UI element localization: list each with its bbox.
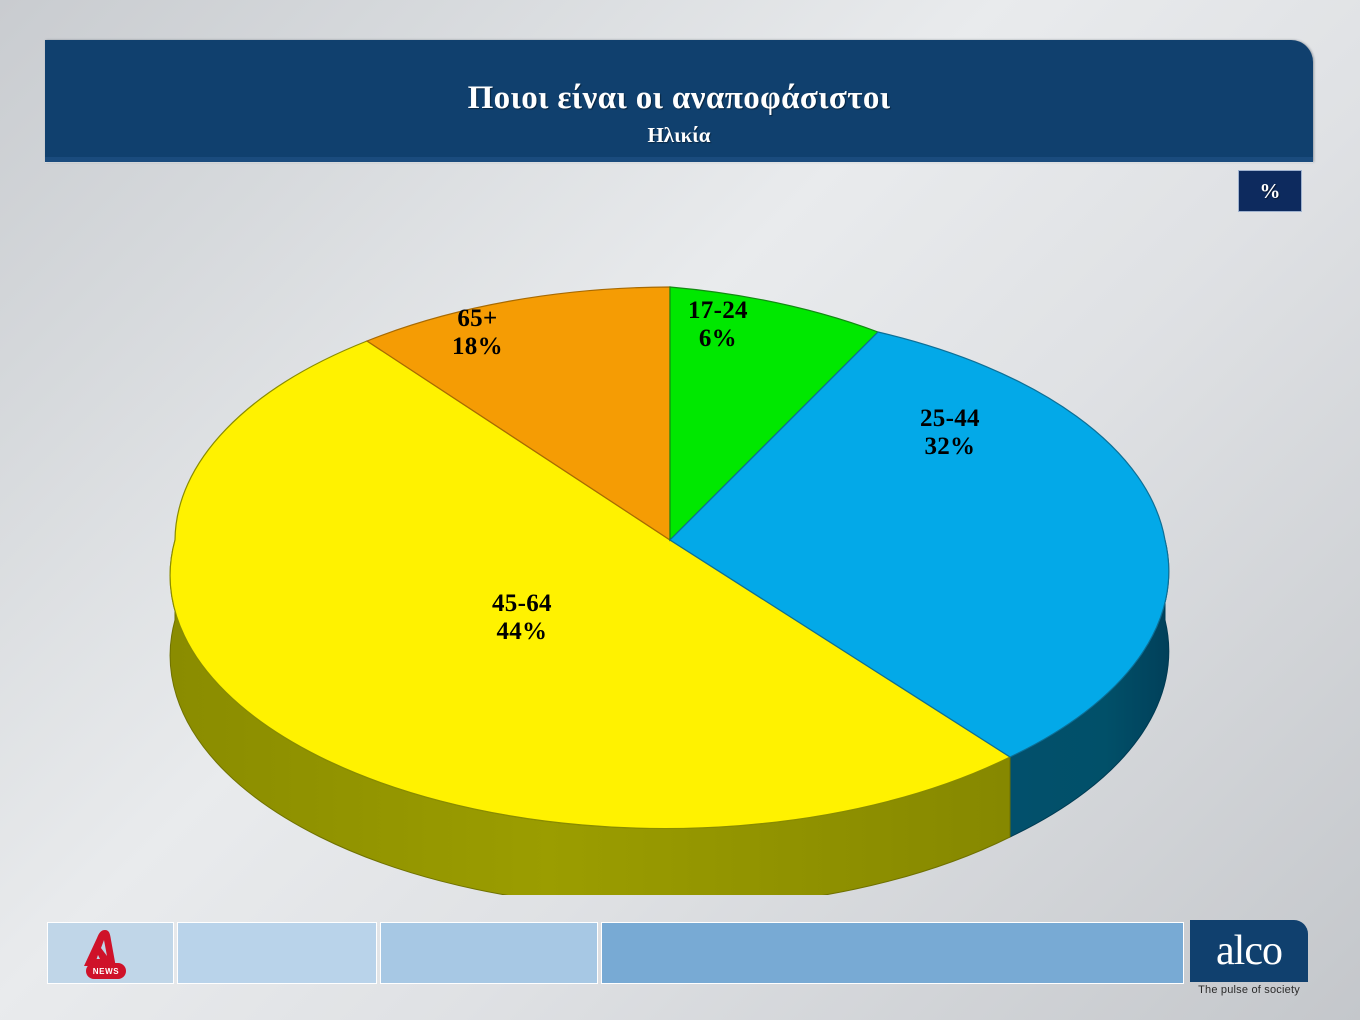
slice-label-25-44-name: 25-44 (920, 405, 980, 432)
slide-canvas: Ποιοι είναι οι αναποφάσιστοι Ηλικία % (0, 0, 1360, 1020)
anews-logo: NEWS (78, 928, 138, 980)
slice-label-17-24-name: 17-24 (688, 297, 748, 324)
pie-chart-svg (100, 195, 1260, 895)
alco-logo: alco The pulse of society (1190, 920, 1310, 1010)
footer-box-4 (601, 922, 1184, 984)
slice-label-25-44: 25-44 32% (920, 405, 980, 461)
page-title: Ποιοι είναι οι αναποφάσιστοι (45, 82, 1313, 115)
anews-news-pill: NEWS (86, 963, 126, 979)
slice-label-17-24-value: 6% (688, 325, 748, 353)
alco-wordmark: alco (1190, 920, 1308, 982)
slice-label-65-plus-value: 18% (452, 333, 503, 361)
footer-box-3 (380, 922, 598, 984)
alco-tagline: The pulse of society (1190, 984, 1308, 996)
page-subtitle: Ηλικία (45, 125, 1313, 146)
slice-label-17-24: 17-24 6% (688, 297, 748, 353)
slice-label-65-plus-name: 65+ (457, 305, 497, 332)
slice-label-45-64: 45-64 44% (492, 590, 552, 646)
slice-label-65-plus: 65+ 18% (452, 305, 503, 361)
slice-label-45-64-name: 45-64 (492, 590, 552, 617)
title-bar: Ποιοι είναι οι αναποφάσιστοι Ηλικία (45, 40, 1313, 162)
footer-bar: NEWS alco The pulse of society (0, 922, 1360, 1020)
pie-chart: 17-24 6% 25-44 32% 45-64 44% 65+ 18% (100, 195, 1260, 895)
slice-label-25-44-value: 32% (920, 433, 980, 461)
footer-box-2 (177, 922, 377, 984)
slice-label-45-64-value: 44% (492, 618, 552, 646)
